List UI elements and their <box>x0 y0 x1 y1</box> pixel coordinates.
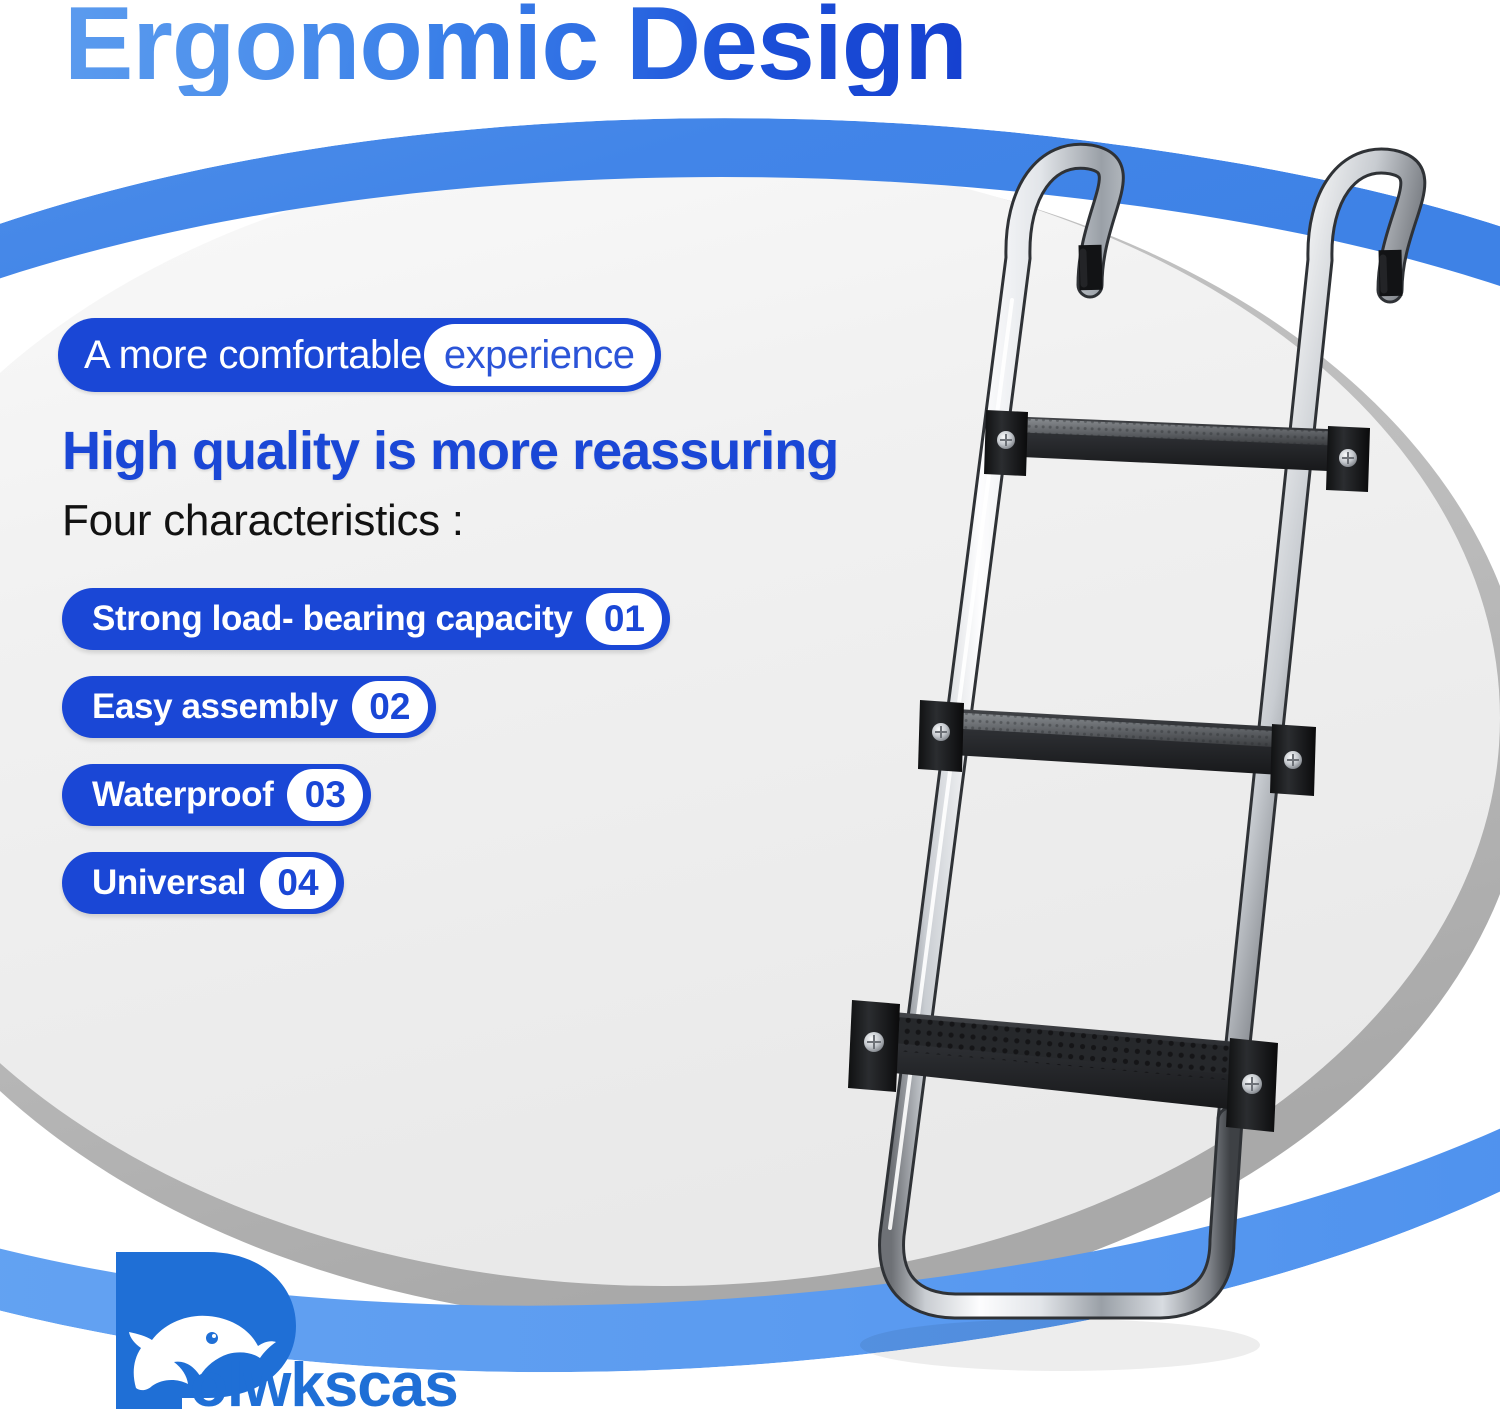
brand-wordmark: olwkscas <box>190 1351 458 1413</box>
step-clamp-right-2 <box>1270 724 1316 796</box>
feature-row-1: Strong load- bearing capacity 01 <box>62 588 670 676</box>
feature-label: Easy assembly <box>92 687 352 727</box>
banner-highlight-chip: experience <box>424 324 655 386</box>
page-title: Ergonomic Design <box>64 0 967 96</box>
ladder-shadow <box>860 1319 1260 1371</box>
step-clamp-right-1 <box>1326 426 1370 492</box>
headline-text: High quality is more reassuring <box>62 420 838 482</box>
feature-label: Strong load- bearing capacity <box>92 599 586 639</box>
feature-pill-universal[interactable]: Universal 04 <box>62 852 344 914</box>
feature-label: Universal <box>92 863 260 903</box>
comfort-banner-pill: A more comfortable experience <box>58 318 661 392</box>
feature-pill-strong-load-bearing-capacity[interactable]: Strong load- bearing capacity 01 <box>62 588 670 650</box>
feature-number-badge: 04 <box>260 857 336 909</box>
rail-end-cap-right <box>1390 250 1391 296</box>
banner-main-text: A more comfortable <box>84 333 424 378</box>
feature-number-badge: 02 <box>352 681 428 733</box>
feature-row-2: Easy assembly 02 <box>62 676 670 764</box>
feature-row-3: Waterproof 03 <box>62 764 670 852</box>
brand-logo: olwkscas <box>108 1248 468 1413</box>
rail-end-cap-left <box>1090 245 1091 290</box>
feature-number-badge: 01 <box>586 593 662 645</box>
feature-number-badge: 03 <box>287 769 363 821</box>
feature-pill-waterproof[interactable]: Waterproof 03 <box>62 764 371 826</box>
feature-pill-easy-assembly[interactable]: Easy assembly 02 <box>62 676 436 738</box>
feature-row-4: Universal 04 <box>62 852 670 940</box>
step-clamp-left-3 <box>848 1000 900 1092</box>
feature-label: Waterproof <box>92 775 287 815</box>
feature-list: Strong load- bearing capacity 01 Easy as… <box>62 588 670 940</box>
subline-text: Four characteristics : <box>62 496 464 546</box>
step-clamp-right-3 <box>1226 1038 1278 1132</box>
ladder-rail-right <box>1230 161 1413 1120</box>
step-clamp-left-2 <box>918 700 964 772</box>
step-clamp-left-1 <box>984 410 1028 476</box>
marketing-banner: Ergonomic Design A more comfortable expe… <box>0 0 1500 1420</box>
product-image-pool-ladder <box>760 100 1500 1420</box>
